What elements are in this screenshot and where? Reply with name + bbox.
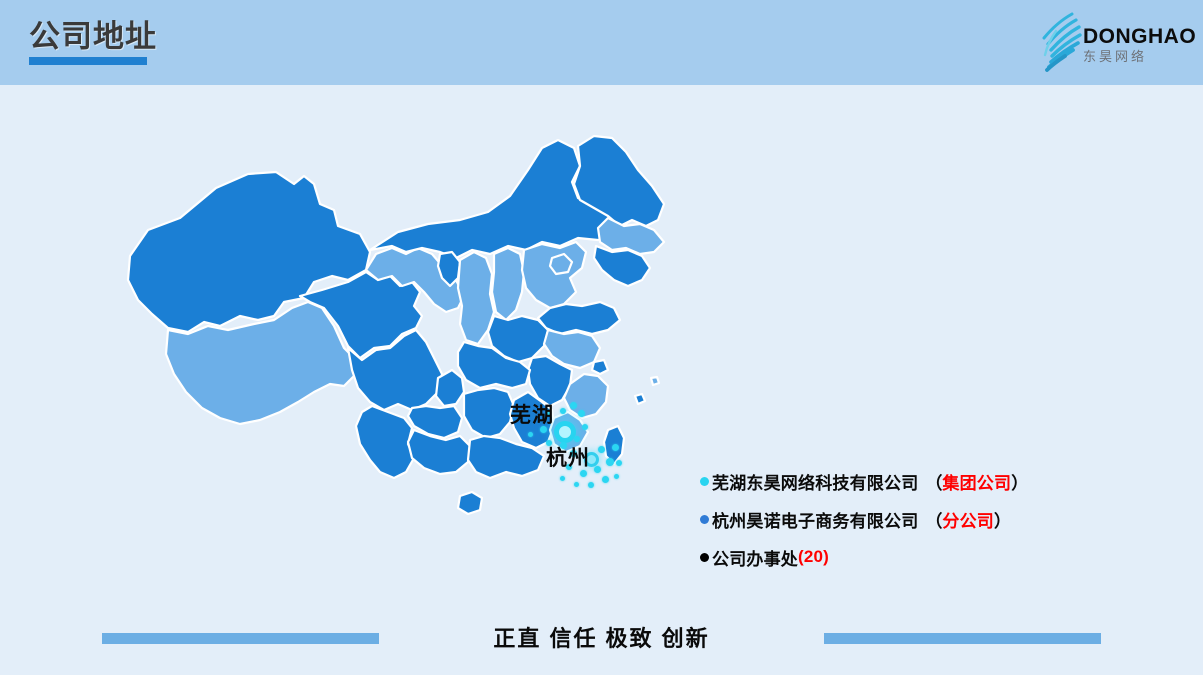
legend-bullet-cyan	[700, 477, 709, 486]
brand-logo: DONGHAO 东昊网络	[1021, 6, 1189, 78]
legend-label: 杭州昊诺电子商务有限公司	[712, 507, 918, 532]
slide-header: 公司地址 DONGHAO 东昊网络	[0, 0, 1203, 85]
legend-item-headquarters: 芜湖东昊网络科技有限公司 （集团公司）	[700, 462, 1120, 500]
legend: 芜湖东昊网络科技有限公司 （集团公司） 杭州昊诺电子商务有限公司 （分公司） 公…	[700, 462, 1120, 576]
china-map: 芜湖 杭州	[108, 130, 688, 610]
paren-open: （	[925, 507, 942, 532]
province-shanghai	[592, 360, 608, 374]
logo-subtitle: 东昊网络	[1083, 49, 1189, 66]
logo-text-block: DONGHAO 东昊网络	[1083, 26, 1189, 66]
title-underline	[29, 57, 147, 65]
province-hebei	[522, 242, 586, 308]
province-hunan	[464, 388, 514, 438]
province-taiwan	[604, 426, 624, 464]
legend-label: 公司办事处	[712, 545, 798, 570]
legend-tag: 集团公司	[942, 469, 1011, 494]
legend-bullet-black	[700, 553, 709, 562]
china-map-svg	[108, 130, 688, 610]
province-shandong	[538, 302, 620, 334]
province-shanxi	[492, 248, 524, 320]
footer-bar-right	[824, 633, 1101, 644]
province-islands	[635, 394, 645, 404]
province-hainan	[458, 492, 482, 514]
province-islands-2	[651, 377, 659, 385]
legend-label: 芜湖东昊网络科技有限公司	[712, 469, 918, 494]
paren-open: （	[925, 469, 942, 494]
legend-item-offices: 公司办事处(20)	[700, 538, 1120, 576]
paren-close: ）	[1011, 469, 1028, 494]
logo-name: DONGHAO	[1083, 26, 1189, 48]
paren-close: ）	[994, 507, 1011, 532]
legend-tag: (20)	[798, 547, 829, 567]
province-yunnan	[356, 406, 414, 478]
legend-item-branch: 杭州昊诺电子商务有限公司 （分公司）	[700, 500, 1120, 538]
page-title: 公司地址	[29, 21, 157, 52]
legend-bullet-blue	[700, 515, 709, 524]
legend-tag: 分公司	[942, 507, 994, 532]
province-jilin	[598, 218, 664, 254]
